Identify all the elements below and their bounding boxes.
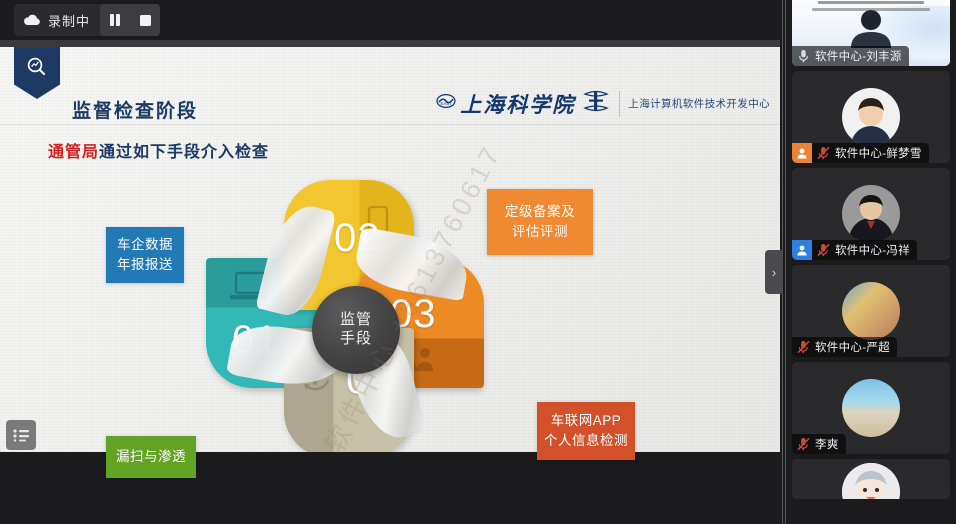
- participant-name: 李爽: [813, 436, 839, 452]
- sscenter-emblem-icon: [581, 88, 611, 119]
- recording-controls: [100, 4, 160, 36]
- academy-name: 上海科学院: [460, 89, 575, 119]
- pinwheel-diagram: 01 02 03: [206, 180, 506, 480]
- participant-name: 软件中心-冯祥: [833, 242, 910, 258]
- participant-sidebar[interactable]: 软件中心-刘丰源: [786, 0, 956, 524]
- pause-recording-button[interactable]: [100, 4, 130, 36]
- participant-name: 软件中心-刘丰源: [813, 48, 902, 64]
- participant-tile[interactable]: 软件中心-冯祥: [792, 168, 950, 260]
- svg-text:SAST: SAST: [441, 101, 453, 106]
- microphone-icon: [795, 46, 811, 66]
- avatar: [842, 379, 900, 437]
- microphone-muted-icon: [815, 240, 831, 260]
- callout-red-line1: 车联网APP: [544, 411, 628, 431]
- participant-name: 软件中心-严超: [813, 339, 890, 355]
- participant-video: [792, 459, 950, 499]
- logo-divider: [619, 91, 620, 117]
- page-title: 监督检查阶段: [72, 96, 198, 123]
- callout-red-line2: 个人信息检测: [544, 431, 628, 451]
- slide-subtitle: 通管局通过如下手段介入检查: [48, 138, 269, 162]
- person-badge-icon: [792, 240, 812, 260]
- hub-line-2: 手段: [340, 330, 372, 349]
- slide-top-strip: [0, 40, 780, 47]
- diagram-hub: 监管 手段: [312, 286, 400, 374]
- header-divider: [0, 124, 780, 125]
- slide-text-line: [818, 1, 924, 4]
- chevron-right-icon[interactable]: ›: [765, 250, 783, 294]
- person-badge-icon: [792, 143, 812, 163]
- callout-orange-line2: 评估评测: [505, 222, 575, 242]
- subtitle-rest: 通过如下手段介入检查: [99, 144, 269, 161]
- cloud-icon: [22, 10, 42, 30]
- participant-namebar: 软件中心-严超: [792, 337, 897, 357]
- sast-emblem-icon: SAST: [436, 91, 456, 116]
- callout-green: 漏扫与渗透: [106, 436, 196, 478]
- branding-logos: SAST 上海科学院 上海计算机软件技术开发中心: [436, 88, 770, 119]
- shared-screen-slide[interactable]: 监督检查阶段 通管局通过如下手段介入检查 SAST 上海科学院 上海计算机软件技…: [0, 40, 780, 488]
- avatar: [842, 88, 900, 146]
- participant-tile[interactable]: 软件中心-严超: [792, 265, 950, 357]
- stop-recording-button[interactable]: [130, 4, 160, 36]
- center-name: 上海计算机软件技术开发中心: [628, 96, 770, 111]
- callout-blue: 车企数据 年报报送: [106, 227, 184, 283]
- microphone-muted-icon: [795, 434, 811, 454]
- callout-orange-line1: 定级备案及: [505, 202, 575, 222]
- avatar: [842, 185, 900, 243]
- callout-blue-line2: 年报报送: [117, 255, 173, 275]
- presenter-silhouette: [849, 8, 893, 48]
- microphone-muted-icon: [795, 337, 811, 357]
- magnifier-chart-icon: [14, 47, 60, 99]
- callout-red: 车联网APP 个人信息检测: [537, 402, 635, 460]
- hub-line-1: 监管: [340, 311, 372, 330]
- participant-namebar: 软件中心-刘丰源: [792, 46, 909, 66]
- subtitle-highlight: 通管局: [48, 144, 99, 161]
- participant-namebar: 软件中心-冯祥: [792, 240, 917, 260]
- participant-tile[interactable]: 软件中心-刘丰源: [792, 0, 950, 66]
- avatar: [842, 463, 900, 499]
- recording-toolbar: 录制中: [14, 4, 160, 36]
- avatar: [842, 282, 900, 340]
- callout-orange: 定级备案及 评估评测: [487, 189, 593, 255]
- participant-namebar: 李爽: [792, 434, 846, 454]
- callout-blue-line1: 车企数据: [117, 235, 173, 255]
- list-icon[interactable]: [6, 420, 36, 450]
- callout-green-line1: 漏扫与渗透: [116, 447, 186, 467]
- participant-tile[interactable]: [792, 459, 950, 499]
- participant-tile[interactable]: 软件中心-鲜梦雪: [792, 71, 950, 163]
- participant-name: 软件中心-鲜梦雪: [833, 145, 922, 161]
- participant-tile[interactable]: 李爽: [792, 362, 950, 454]
- microphone-muted-icon: [815, 143, 831, 163]
- recording-status-label: 录制中: [48, 11, 100, 30]
- participant-namebar: 软件中心-鲜梦雪: [792, 143, 929, 163]
